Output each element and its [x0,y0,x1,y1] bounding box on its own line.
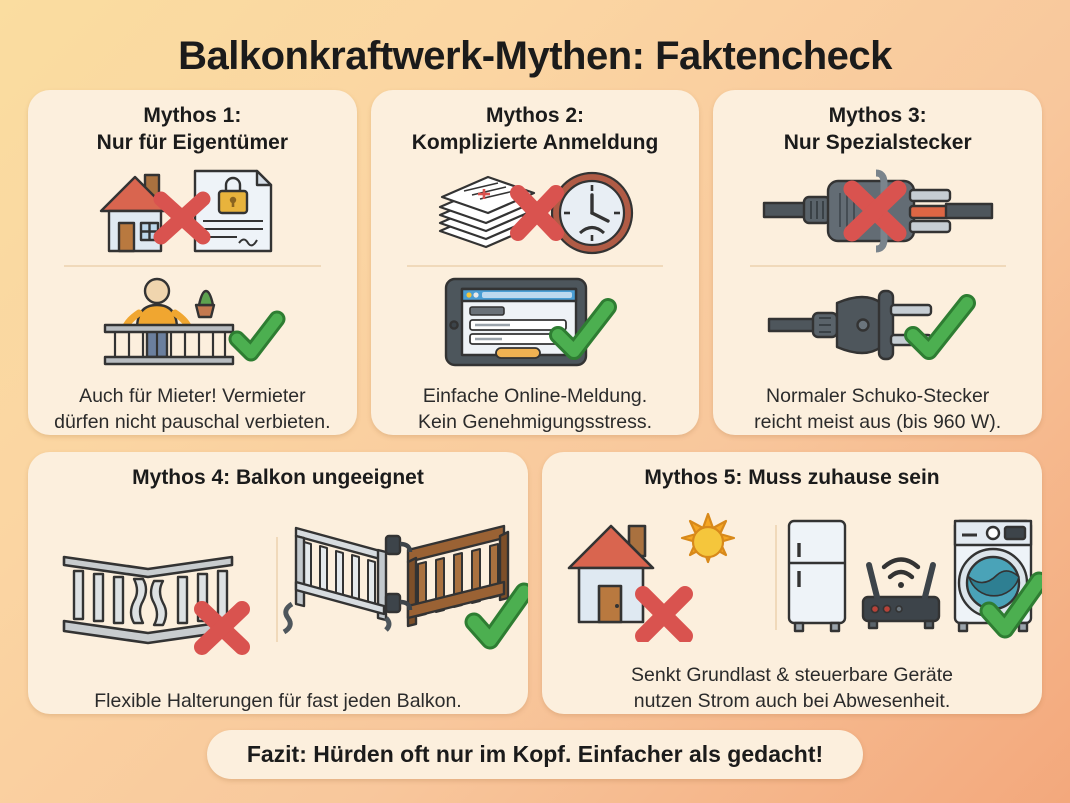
card-2-divider [407,265,663,267]
footer-banner: Fazit: Hürden oft nur im Kopf. Einfacher… [28,730,1042,779]
card-1-title-line2: Nur für Eigentümer [38,129,347,156]
fridge-router-washer-checked-icon [777,495,1042,659]
special-plug-crossed-icon [713,161,1042,261]
myth-cards-row-top: Mythos 1: Nur für Eigentümer [28,90,1042,435]
myth-card-1[interactable]: Mythos 1: Nur für Eigentümer [28,90,357,435]
card-1-art [28,161,357,381]
card-1-title: Mythos 1: Nur für Eigentümer [28,90,357,161]
myth-card-3[interactable]: Mythos 3: Nur Spezialstecker [713,90,1042,435]
card-3-caption-line2: reicht meist aus (bis 960 W). [725,410,1030,435]
card-5-art [542,495,1042,659]
card-1-caption-line1: Auch für Mieter! Vermieter [40,384,345,409]
card-3-art [713,161,1042,381]
schuko-plug-checked-icon [713,271,1042,371]
tablet-online-form-checked-icon [371,271,700,371]
myth-cards-row-bottom: Mythos 4: Balkon ungeeignet [28,452,1042,714]
card-4-art [28,495,528,684]
broken-railing-crossed-icon [28,495,276,684]
card-1-caption: Auch für Mieter! Vermieter dürfen nicht … [28,380,357,435]
conclusion-pill[interactable]: Fazit: Hürden oft nur im Kopf. Einfacher… [207,730,863,779]
page-title: Balkonkraftwerk-Mythen: Faktencheck [28,0,1042,90]
card-4-caption: Flexible Halterungen für fast jeden Balk… [28,685,528,714]
myth-card-2[interactable]: Mythos 2: Komplizierte Anmeldung [371,90,700,435]
card-2-title-line2: Komplizierte Anmeldung [381,129,690,156]
person-on-balcony-checked-icon [28,271,357,371]
myth-card-5[interactable]: Mythos 5: Muss zuhause sein [542,452,1042,714]
card-3-title-line2: Nur Spezialstecker [723,129,1032,156]
paper-stack-clock-crossed-icon [371,161,700,261]
card-2-title: Mythos 2: Komplizierte Anmeldung [371,90,700,161]
card-3-divider [750,265,1006,267]
card-3-title: Mythos 3: Nur Spezialstecker [713,90,1042,161]
card-1-divider [64,265,320,267]
card-2-caption: Einfache Online-Meldung. Kein Genehmigun… [371,380,700,435]
card-2-art [371,161,700,381]
myth-card-4[interactable]: Mythos 4: Balkon ungeeignet [28,452,528,714]
card-3-caption: Normaler Schuko-Stecker reicht meist aus… [713,380,1042,435]
card-3-title-line1: Mythos 3: [723,102,1032,129]
card-2-title-line1: Mythos 2: [381,102,690,129]
card-2-caption-line2: Kein Genehmigungsstress. [383,410,688,435]
card-2-caption-line1: Einfache Online-Meldung. [383,384,688,409]
house-with-contract-lock-crossed-icon [28,161,357,261]
card-3-caption-line1: Normaler Schuko-Stecker [725,384,1030,409]
card-4-title: Mythos 4: Balkon ungeeignet [28,452,528,495]
card-5-title: Mythos 5: Muss zuhause sein [542,452,1042,495]
card-1-title-line1: Mythos 1: [38,102,347,129]
card-5-caption-line2: nutzen Strom auch bei Abwesenheit. [554,689,1030,714]
card-5-caption-line1: Senkt Grundlast & steuerbare Geräte [554,663,1030,688]
card-1-caption-line2: dürfen nicht pauschal verbieten. [40,410,345,435]
empty-house-sun-crossed-icon [542,495,775,659]
flexible-railing-mounts-checked-icon [278,495,528,684]
infographic-page: Balkonkraftwerk-Mythen: Faktencheck Myth… [0,0,1070,803]
card-5-caption: Senkt Grundlast & steuerbare Geräte nutz… [542,659,1042,714]
